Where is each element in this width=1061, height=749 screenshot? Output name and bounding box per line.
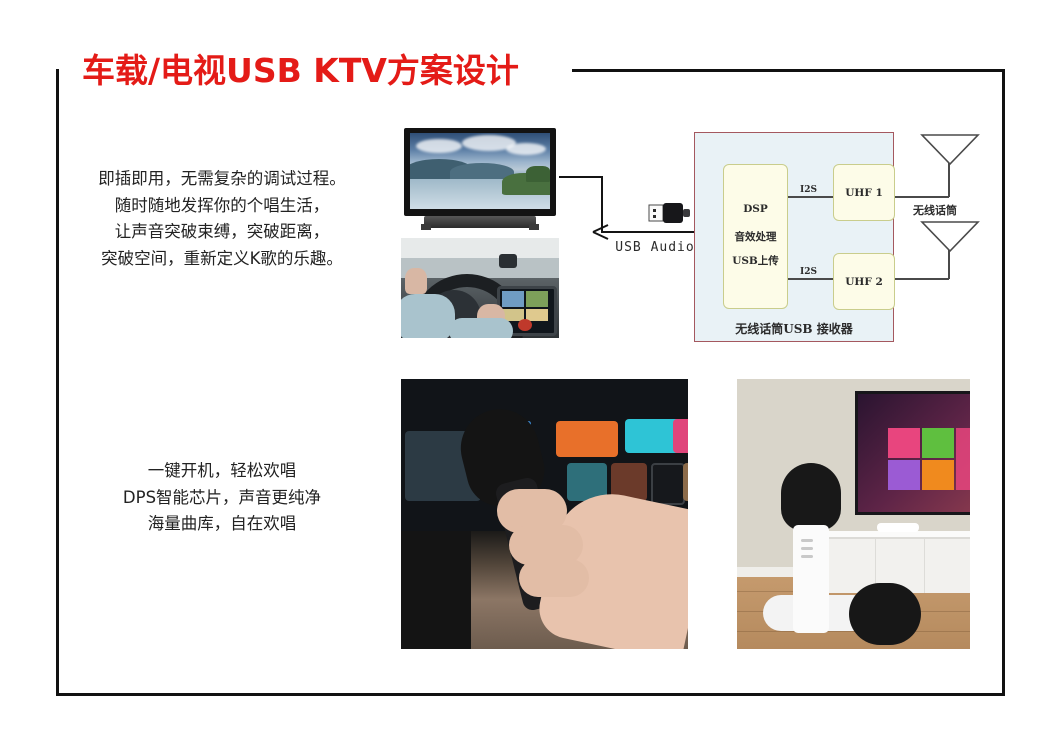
microphone-2-foam-head — [849, 583, 921, 645]
i2s-label-2: I2S — [800, 267, 817, 277]
dsp-label-2: 音效处理 — [724, 229, 787, 244]
car-photo — [401, 238, 559, 338]
antenna-1-icon — [920, 133, 980, 165]
antenna2-feed-h — [895, 278, 949, 280]
tv-stand — [424, 216, 536, 228]
intro-line-1: 即插即用，无需复杂的调试过程。 — [62, 166, 382, 193]
feature-line-2: DPS智能芯片，声音更纯净 — [62, 485, 382, 512]
tv-bezel — [404, 128, 556, 216]
antenna1-feed-h — [895, 196, 949, 198]
features-paragraph: 一键开机，轻松欢唱 DPS智能芯片，声音更纯净 海量曲库，自在欢唱 — [62, 458, 382, 538]
antenna2-feed-v — [948, 250, 950, 279]
intro-line-4: 突破空间，重新定义K歌的乐趣。 — [62, 246, 382, 273]
microphone-1-handle — [793, 525, 829, 633]
feature-line-1: 一键开机，轻松欢唱 — [62, 458, 382, 485]
feature-line-3: 海量曲库，自在欢唱 — [62, 511, 382, 538]
i2s-wire-2 — [788, 278, 833, 280]
car-hand-left — [405, 268, 427, 294]
car-arm-left — [401, 294, 455, 338]
frame-border-top — [572, 69, 1005, 72]
tv-foot-right — [529, 224, 539, 230]
uhf2-block: UHF 2 — [833, 253, 895, 310]
antenna-2-icon — [920, 220, 980, 252]
microphone-1-foam-head — [781, 463, 841, 531]
tv-screen-image — [410, 133, 550, 209]
usb-connector-icon — [648, 201, 692, 225]
hand-fingers-3 — [519, 559, 589, 597]
antenna1-feed-v — [948, 163, 950, 197]
i2s-wire-1 — [788, 196, 833, 198]
car-dash-shadow — [401, 531, 471, 649]
uhf1-block: UHF 1 — [833, 164, 895, 221]
intro-line-3: 让声音突破束缚，突破距离， — [62, 219, 382, 246]
dsp-label-1: DSP — [724, 203, 787, 215]
receiver-caption: 无线话筒USB 接收器 — [694, 320, 894, 337]
room-photo — [737, 379, 970, 649]
intro-line-2: 随时随地发挥你的个唱生活， — [62, 193, 382, 220]
frame-border-bottom — [56, 693, 1005, 696]
car-roof — [401, 238, 559, 258]
dsp-block: DSP 音效处理 USB上传 — [723, 164, 788, 309]
dsp-label-3: USB上传 — [724, 253, 787, 268]
frame-border-right — [1002, 69, 1005, 696]
room-remote — [877, 523, 919, 532]
room-tv-screen — [855, 391, 970, 515]
frame-border-left — [56, 69, 59, 696]
tv-photo — [401, 126, 559, 230]
intro-paragraph: 即插即用，无需复杂的调试过程。 随时随地发挥你的个唱生活， 让声音突破束缚，突破… — [62, 166, 382, 273]
tv-foot-left — [421, 224, 431, 230]
car-phone-mount — [499, 254, 517, 268]
usb-arrow-icon — [592, 222, 614, 242]
page-title: 车载/电视USB KTV方案设计 — [82, 44, 519, 92]
usb-audio-line — [601, 231, 696, 233]
wireless-mic-label: 无线话筒 — [900, 202, 970, 218]
mic-in-car-photo — [401, 379, 688, 649]
car-arm-right — [449, 318, 513, 338]
tv-link-horizontal — [559, 176, 603, 178]
slide-canvas: 车载/电视USB KTV方案设计 即插即用，无需复杂的调试过程。 随时随地发挥你… — [0, 0, 1061, 749]
i2s-label-1: I2S — [800, 185, 817, 195]
